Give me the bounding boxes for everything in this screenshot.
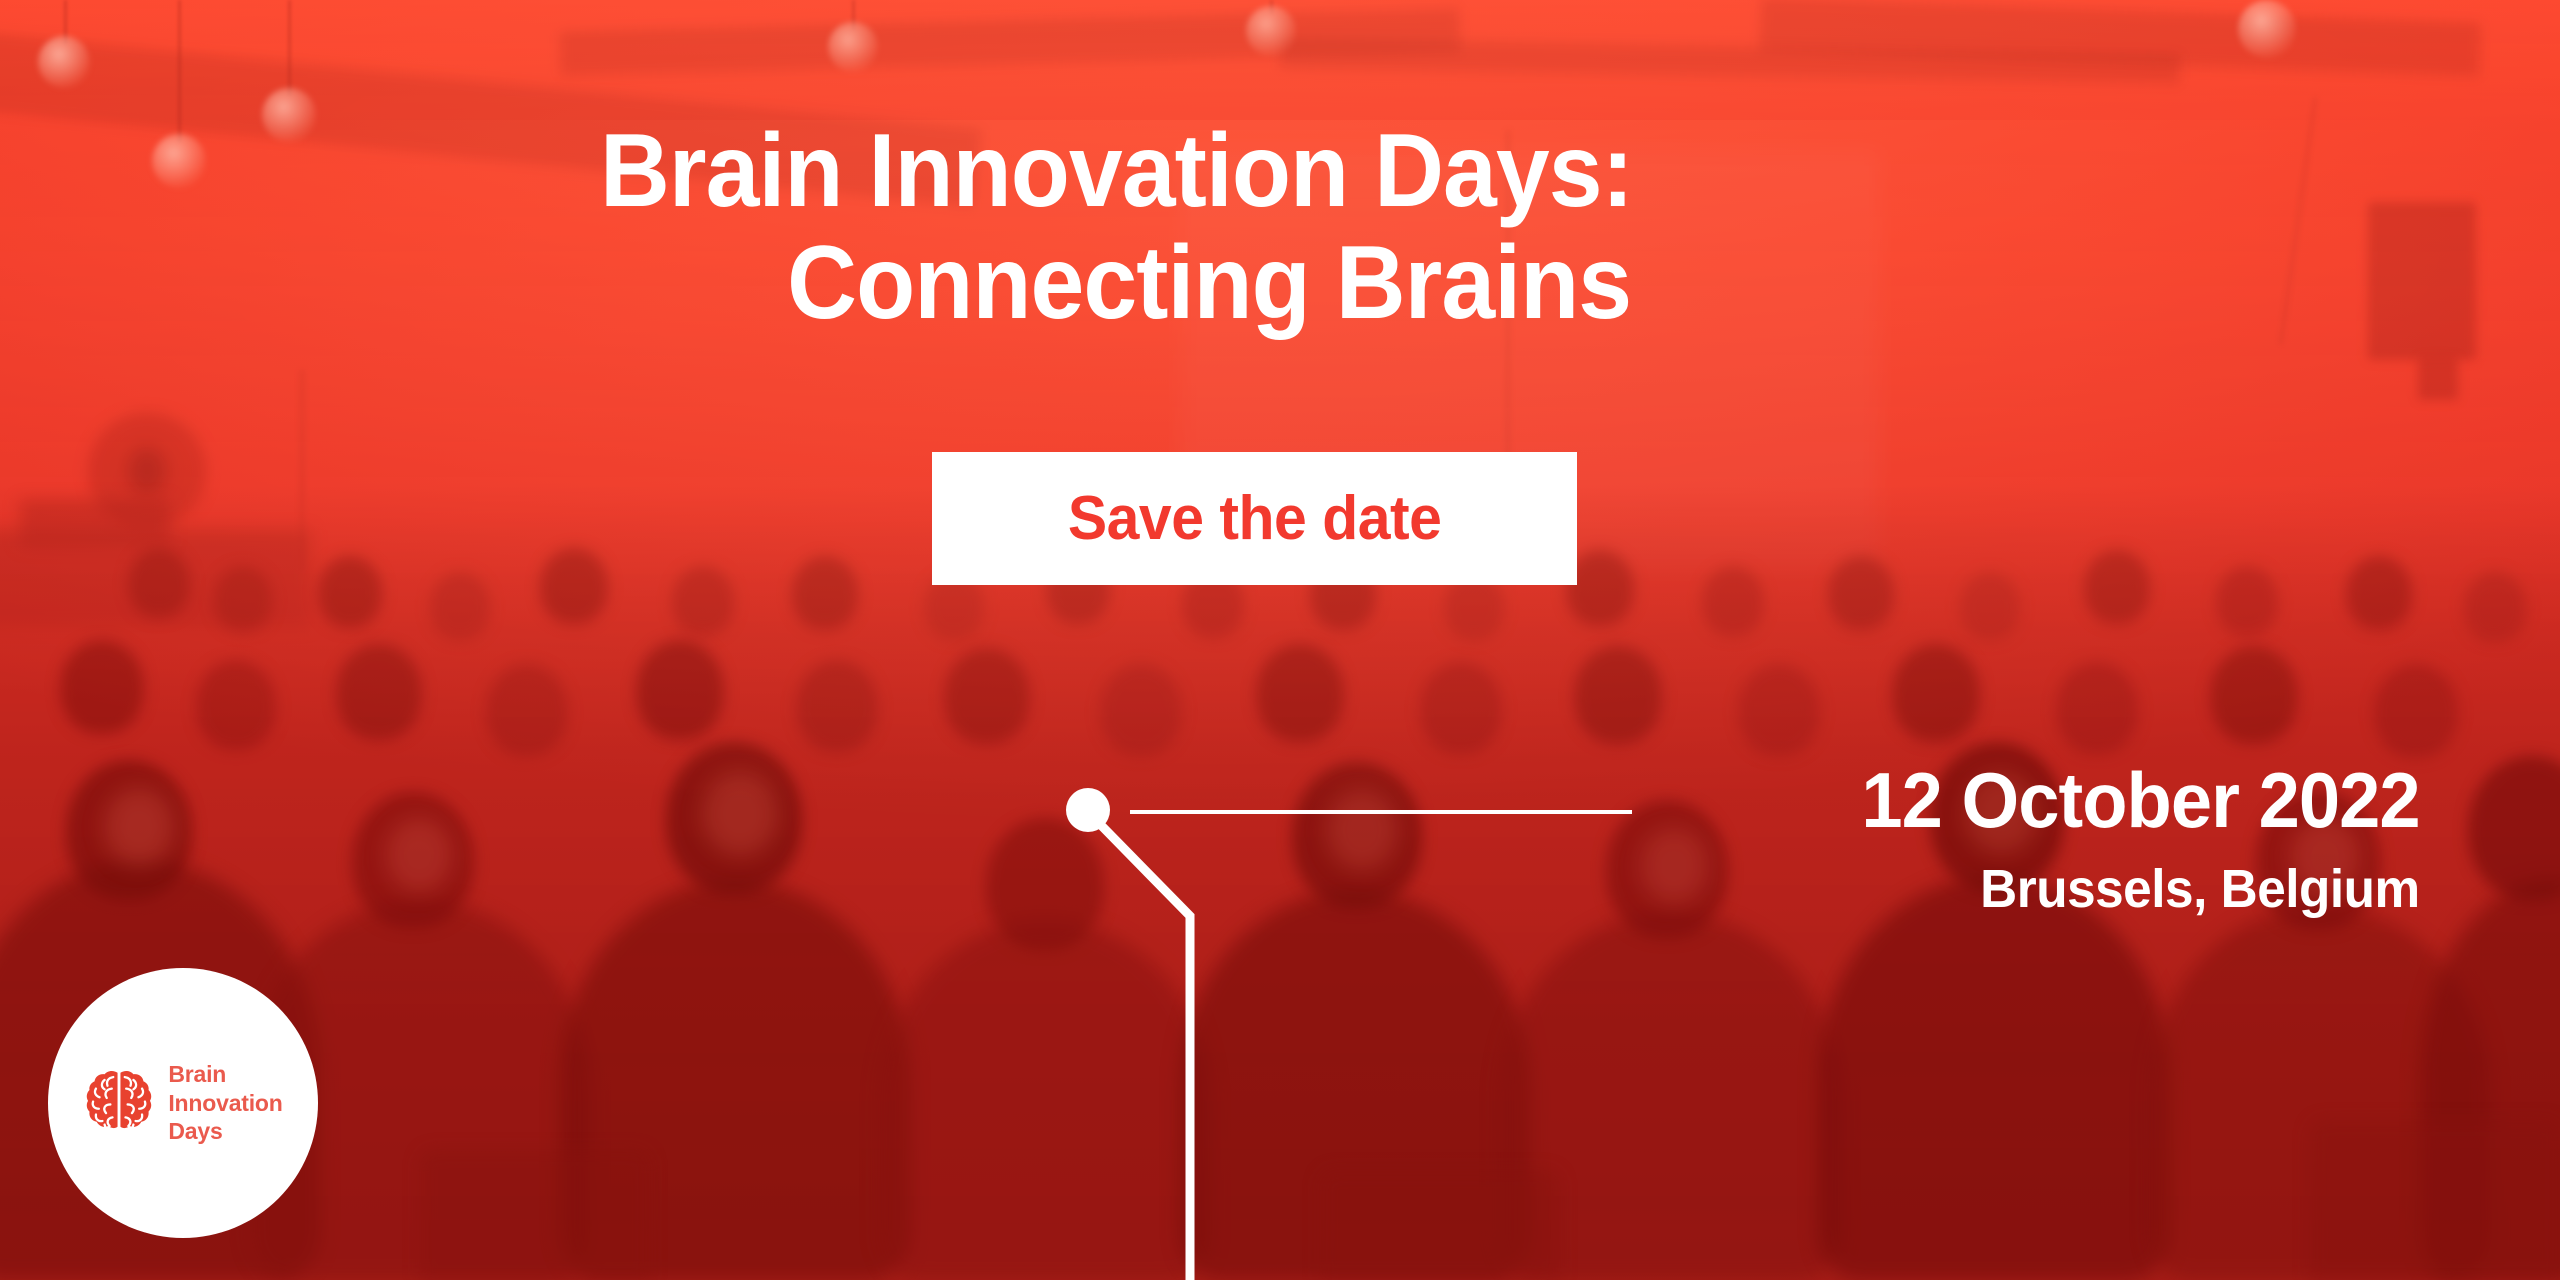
save-the-date-button[interactable]: Save the date xyxy=(932,452,1577,585)
logo-line-2: Innovation xyxy=(168,1089,282,1118)
save-the-date-label: Save the date xyxy=(1068,483,1442,554)
page-title: Brain Innovation Days: Connecting Brains xyxy=(600,118,1902,336)
brain-innovation-days-logo[interactable]: Brain Innovation Days xyxy=(48,968,318,1238)
title-line-1: Brain Innovation Days: xyxy=(600,118,1902,224)
logo-line-3: Days xyxy=(168,1117,282,1146)
logo-line-1: Brain xyxy=(168,1060,282,1089)
brain-icon xyxy=(83,1067,155,1139)
event-location: Brussels, Belgium xyxy=(1862,860,2420,919)
event-banner: Brain Innovation Days: Connecting Brains… xyxy=(0,0,2560,1280)
title-line-2: Connecting Brains xyxy=(600,230,1818,336)
event-details: 12 October 2022 Brussels, Belgium xyxy=(1832,760,2420,919)
logo-wordmark: Brain Innovation Days xyxy=(168,1060,282,1147)
event-date: 12 October 2022 xyxy=(1862,760,2420,842)
